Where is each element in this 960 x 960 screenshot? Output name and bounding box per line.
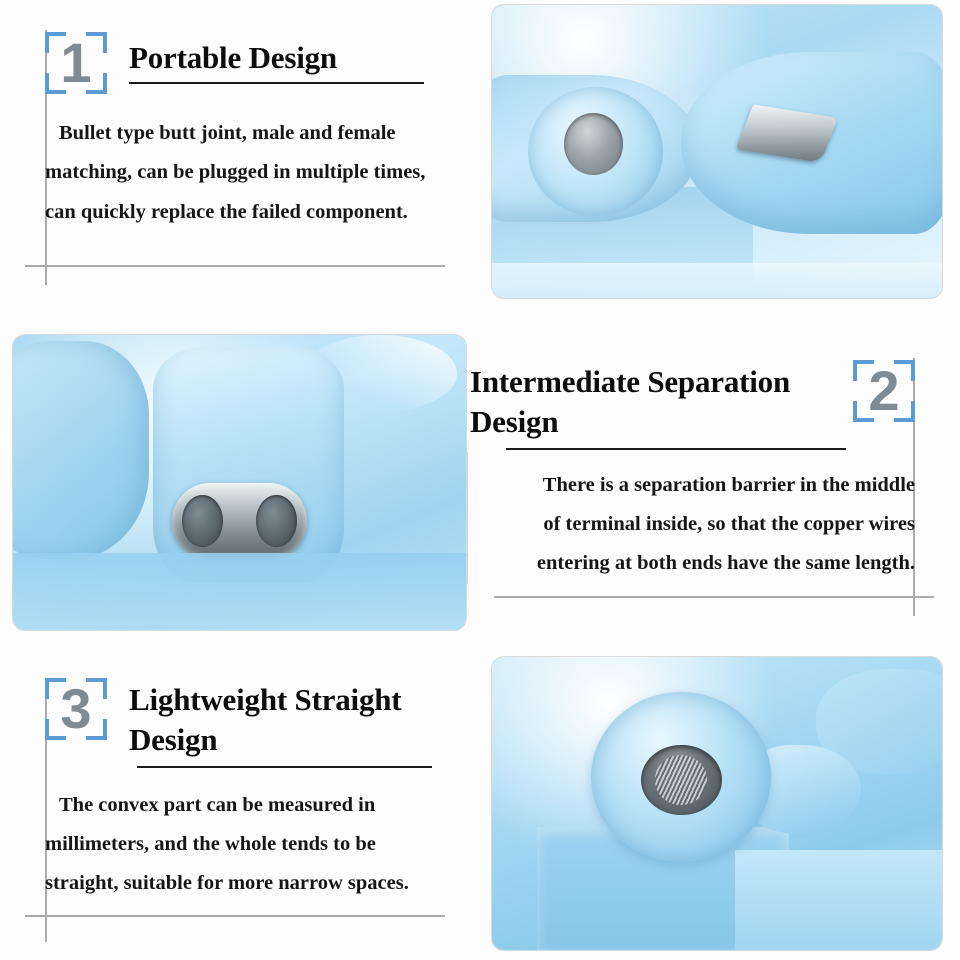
section-1-heading-row: 1 Portable Design (45, 32, 475, 94)
section-3-heading-row: 3 Lightweight Straight Design (45, 678, 485, 768)
section-1-body-line-3: can quickly replace the failed component… (45, 193, 475, 232)
section-2-left-edge-rule (467, 452, 468, 584)
section-2-heading-line-2: Design (470, 402, 849, 442)
section-1-body-line-1: Bullet type butt joint, male and female (45, 114, 475, 153)
section-2-body-line-3: entering at both ends have the same leng… (470, 544, 915, 583)
infographic-page: 1 Portable Design Bullet type butt joint… (0, 0, 960, 960)
section-2-horizontal-rule (494, 596, 934, 598)
section-1-photo (491, 4, 943, 299)
section-1-body: Bullet type butt joint, male and female … (45, 114, 475, 232)
section-3-body-line-3: straight, suitable for more narrow space… (45, 864, 485, 903)
section-2-number: 2 (853, 363, 915, 419)
section-2-heading-line-1: Intermediate Separation (470, 362, 849, 402)
section-1-number: 1 (45, 35, 107, 91)
section-3-body-line-2: millimeters, and the whole tends to be (45, 825, 485, 864)
section-3-text: 3 Lightweight Straight Design The convex… (45, 678, 485, 904)
section-2-number-badge: 2 (853, 360, 915, 422)
section-3-photo (491, 656, 943, 951)
section-3-heading-underline (137, 766, 432, 768)
section-2-body-line-2: of terminal inside, so that the copper w… (470, 505, 915, 544)
section-1-horizontal-rule (25, 265, 445, 267)
section-1-heading-line-1: Portable Design (129, 38, 424, 78)
section-3-heading-line-2: Design (129, 720, 432, 760)
section-3-heading-line-1: Lightweight Straight (129, 680, 432, 720)
section-1-number-badge: 1 (45, 32, 107, 94)
section-1-text: 1 Portable Design Bullet type butt joint… (45, 32, 475, 232)
section-1-body-line-2: matching, can be plugged in multiple tim… (45, 153, 475, 192)
section-2-body: There is a separation barrier in the mid… (470, 466, 915, 584)
section-2-text: Intermediate Separation Design 2 There i… (470, 360, 915, 584)
section-3-body: The convex part can be measured in milli… (45, 786, 485, 904)
section-3-number-badge: 3 (45, 678, 107, 740)
section-3-horizontal-rule (25, 915, 445, 917)
section-3-number: 3 (45, 681, 107, 737)
section-2-heading-underline (506, 448, 846, 450)
section-2-heading-row: Intermediate Separation Design 2 (470, 360, 915, 450)
section-2-photo (12, 334, 467, 631)
section-1-heading-underline (129, 82, 424, 84)
section-2-body-line-1: There is a separation barrier in the mid… (470, 466, 915, 505)
section-3-body-line-1: The convex part can be measured in (45, 786, 485, 825)
